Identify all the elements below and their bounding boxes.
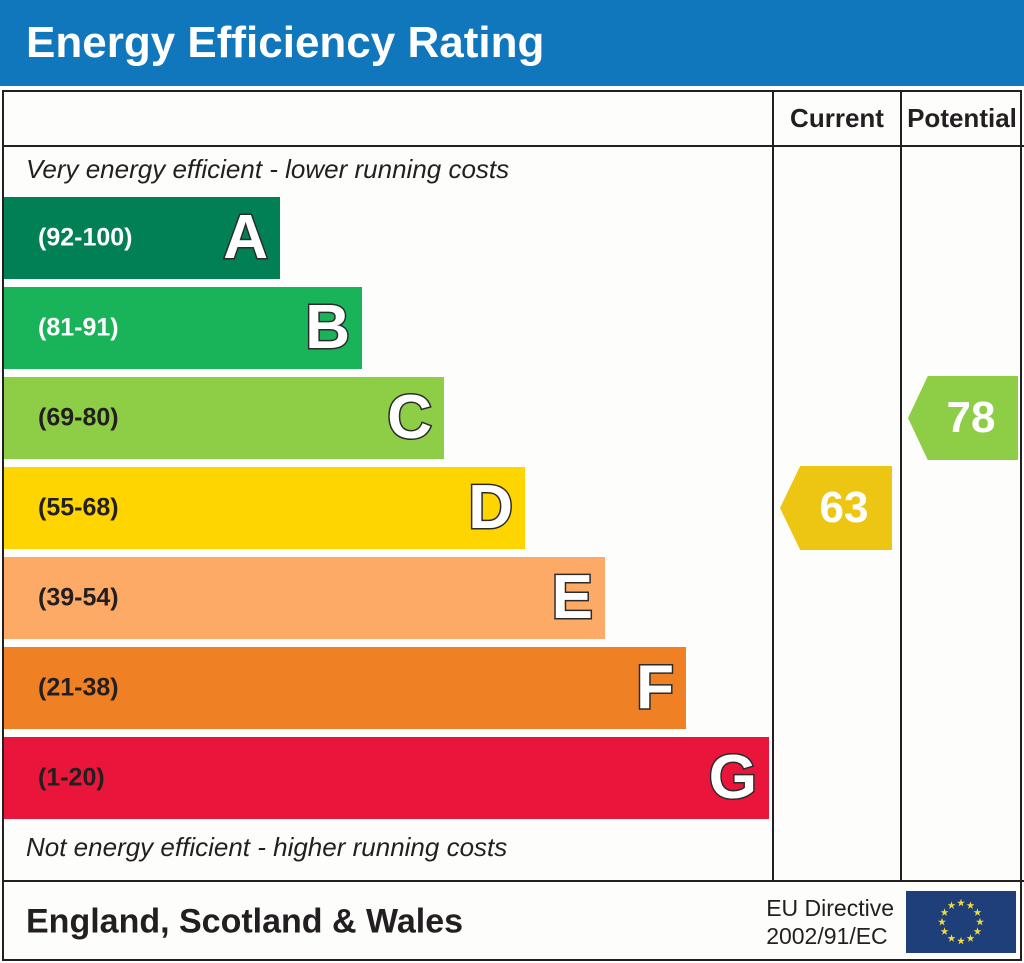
band-letter: G	[709, 747, 757, 809]
footer: England, Scotland & Wales EU Directive 2…	[4, 882, 1024, 961]
header-divider	[4, 145, 1024, 147]
energy-efficiency-certificate: Energy Efficiency Rating Current Potenti…	[0, 0, 1024, 963]
band-range-label: (39-54)	[38, 584, 119, 613]
chart-frame: Current Potential Very energy efficient …	[2, 90, 1022, 961]
rating-band-b: (81-91)B	[4, 287, 362, 369]
band-range-label: (69-80)	[38, 404, 119, 433]
column-header-potential: Potential	[902, 92, 1022, 145]
current-column-divider	[772, 92, 774, 882]
band-range-label: (21-38)	[38, 674, 119, 703]
page-title: Energy Efficiency Rating	[26, 18, 544, 68]
eu-directive-text: EU Directive 2002/91/EC	[766, 893, 894, 949]
caption-top: Very energy efficient - lower running co…	[26, 154, 509, 185]
eu-directive-line2: 2002/91/EC	[766, 922, 894, 950]
band-range-label: (81-91)	[38, 314, 119, 343]
title-banner: Energy Efficiency Rating	[0, 0, 1024, 86]
band-letter: A	[223, 207, 268, 269]
current-rating-arrow: 63	[780, 466, 892, 550]
band-range-label: (1-20)	[38, 764, 105, 793]
rating-band-f: (21-38)F	[4, 647, 686, 729]
rating-band-e: (39-54)E	[4, 557, 605, 639]
eu-flag-icon	[906, 891, 1016, 953]
column-header-current: Current	[774, 92, 900, 145]
potential-rating-value: 78	[931, 393, 996, 443]
rating-bands: (92-100)A(81-91)B(69-80)C(55-68)D(39-54)…	[4, 197, 770, 827]
current-rating-value: 63	[804, 483, 869, 533]
band-letter: D	[468, 477, 513, 539]
band-letter: C	[387, 387, 432, 449]
band-letter: B	[305, 297, 350, 359]
band-range-label: (92-100)	[38, 224, 133, 253]
potential-rating-arrow: 78	[908, 376, 1018, 460]
band-range-label: (55-68)	[38, 494, 119, 523]
rating-band-d: (55-68)D	[4, 467, 525, 549]
region-label: England, Scotland & Wales	[26, 902, 463, 941]
rating-band-a: (92-100)A	[4, 197, 280, 279]
band-letter: F	[636, 657, 674, 719]
caption-bottom: Not energy efficient - higher running co…	[26, 832, 507, 863]
rating-band-g: (1-20)G	[4, 737, 769, 819]
band-letter: E	[552, 567, 593, 629]
potential-column-divider	[900, 92, 902, 882]
rating-band-c: (69-80)C	[4, 377, 444, 459]
eu-directive-line1: EU Directive	[766, 893, 894, 921]
